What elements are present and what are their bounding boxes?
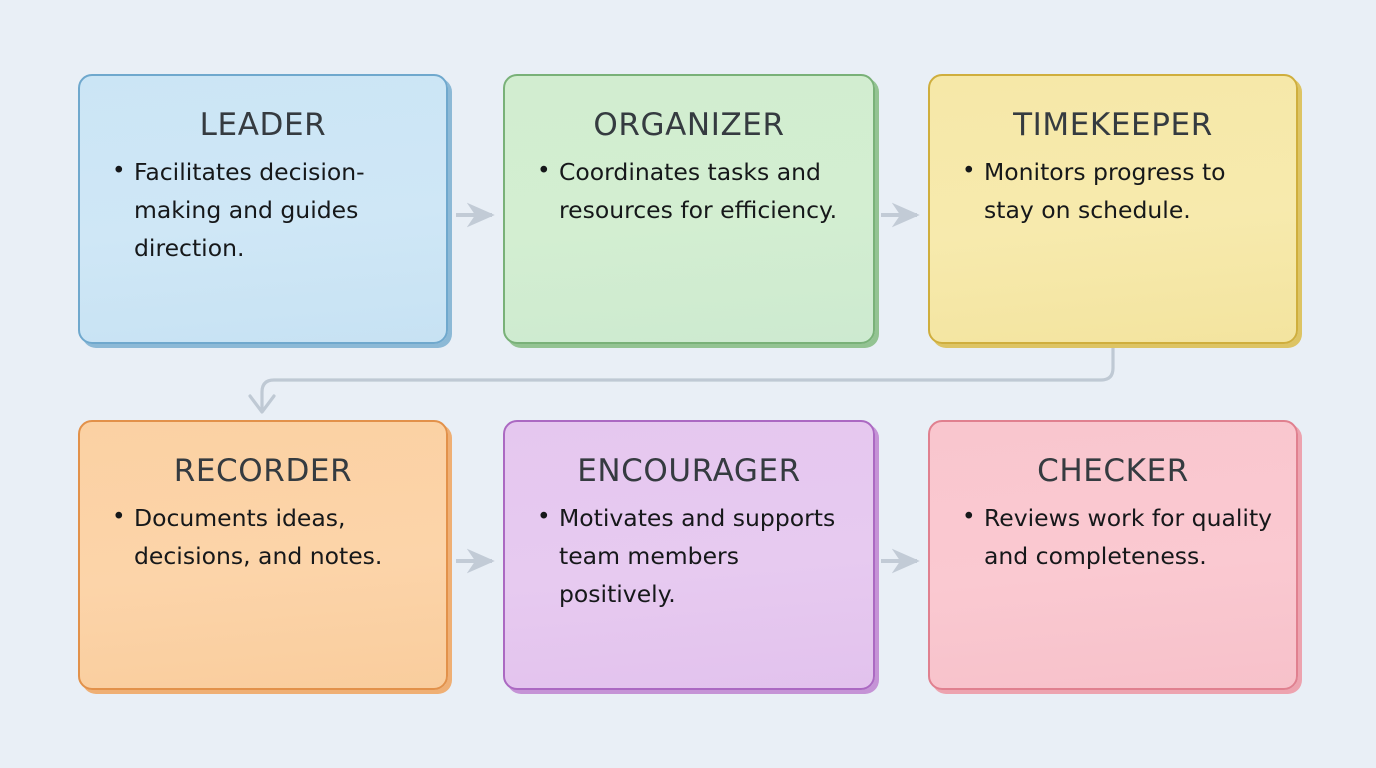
node-checker[interactable]: CHECKER Reviews work for quality and com…	[928, 420, 1298, 690]
node-organizer[interactable]: ORGANIZER Coordinates tasks and resource…	[503, 74, 875, 344]
node-organizer-content: ORGANIZER Coordinates tasks and resource…	[505, 76, 873, 342]
node-checker-bullet-0: Reviews work for quality and completenes…	[984, 499, 1276, 575]
node-recorder-title: RECORDER	[100, 456, 426, 487]
node-organizer-title: ORGANIZER	[525, 110, 853, 141]
node-timekeeper-bullets: Monitors progress to stay on schedule.	[950, 153, 1276, 229]
node-checker-content: CHECKER Reviews work for quality and com…	[930, 422, 1296, 688]
node-leader-content: LEADER Facilitates decision-making and g…	[80, 76, 446, 342]
node-checker-bullets: Reviews work for quality and completenes…	[950, 499, 1276, 575]
node-encourager-title: ENCOURAGER	[525, 456, 853, 487]
node-recorder[interactable]: RECORDER Documents ideas, decisions, and…	[78, 420, 448, 690]
node-encourager-bullet-0: Motivates and supports team members posi…	[559, 499, 853, 613]
node-recorder-bullet-0: Documents ideas, decisions, and notes.	[134, 499, 426, 575]
node-timekeeper[interactable]: TIMEKEEPER Monitors progress to stay on …	[928, 74, 1298, 344]
node-timekeeper-title: TIMEKEEPER	[950, 110, 1276, 141]
node-encourager-bullets: Motivates and supports team members posi…	[525, 499, 853, 613]
node-timekeeper-content: TIMEKEEPER Monitors progress to stay on …	[930, 76, 1296, 342]
node-checker-title: CHECKER	[950, 456, 1276, 487]
diagram-canvas: LEADER Facilitates decision-making and g…	[0, 0, 1376, 768]
connector-timekeeper-to-recorder	[250, 346, 1113, 412]
node-timekeeper-bullet-0: Monitors progress to stay on schedule.	[984, 153, 1276, 229]
node-recorder-bullets: Documents ideas, decisions, and notes.	[100, 499, 426, 575]
node-leader-bullets: Facilitates decision-making and guides d…	[100, 153, 426, 267]
node-organizer-bullets: Coordinates tasks and resources for effi…	[525, 153, 853, 229]
node-leader-title: LEADER	[100, 110, 426, 141]
node-encourager-content: ENCOURAGER Motivates and supports team m…	[505, 422, 873, 688]
node-encourager[interactable]: ENCOURAGER Motivates and supports team m…	[503, 420, 875, 690]
node-leader[interactable]: LEADER Facilitates decision-making and g…	[78, 74, 448, 344]
node-organizer-bullet-0: Coordinates tasks and resources for effi…	[559, 153, 853, 229]
node-leader-bullet-0: Facilitates decision-making and guides d…	[134, 153, 426, 267]
node-recorder-content: RECORDER Documents ideas, decisions, and…	[80, 422, 446, 688]
